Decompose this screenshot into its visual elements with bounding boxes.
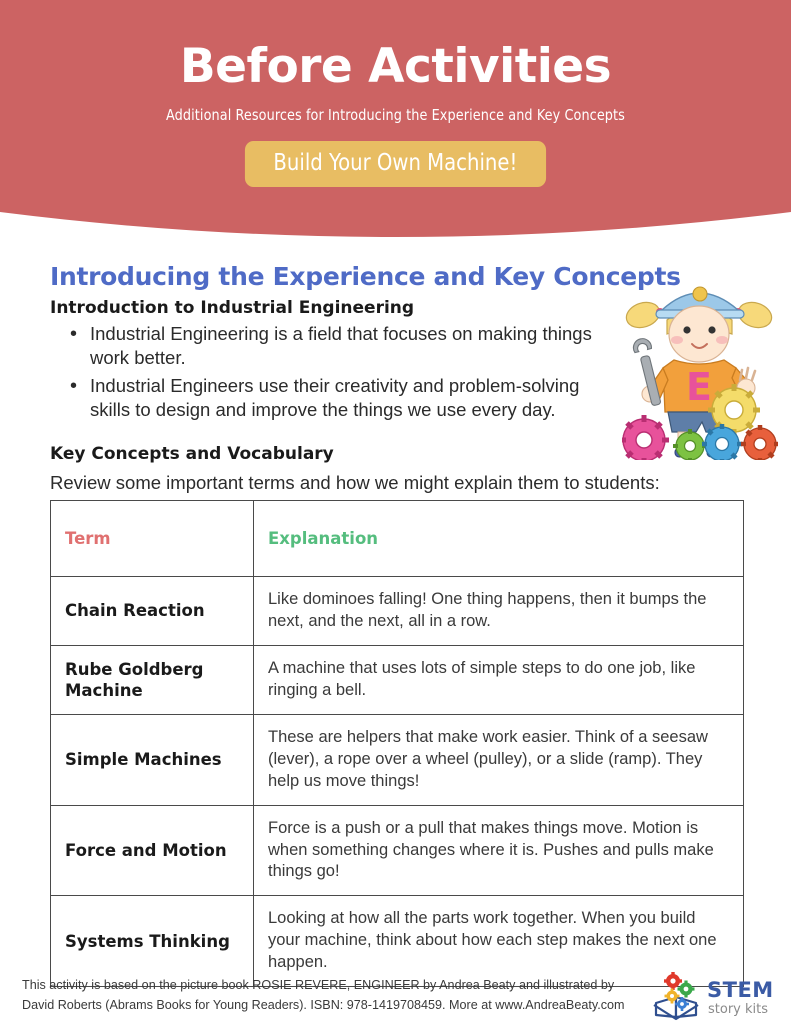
subheading-vocabulary: Key Concepts and Vocabulary [50,444,334,464]
credit-line-1: This activity is based on the picture bo… [22,976,642,996]
logo-wordmark-story-kits: story kits [708,1002,768,1017]
activity-badge: Build Your Own Machine! [245,141,546,187]
stem-story-kits-logo: STEM story kits [652,969,784,1023]
worksheet-page: Before Activities Additional Resources f… [0,0,791,1024]
header-banner: Before Activities Additional Resources f… [0,0,791,250]
intro-bullet-list: Industrial Engineering is a field that f… [62,322,592,426]
vocabulary-table: Term Explanation Chain Reaction Like dom… [50,500,744,987]
column-header-term: Term [51,501,254,577]
credit-text: This activity is based on the picture bo… [22,976,642,1015]
footer: This activity is based on the picture bo… [0,972,791,1024]
term-cell: Rube Goldberg Machine [51,645,254,714]
table-row: Force and Motion Force is a push or a pu… [51,805,744,896]
header-subtitle: Additional Resources for Introducing the… [32,106,760,124]
page-title: Before Activities [0,40,791,94]
column-header-explanation: Explanation [254,501,744,577]
review-instruction: Review some important terms and how we m… [50,472,660,494]
term-cell: Chain Reaction [51,577,254,646]
table-row: Rube Goldberg Machine A machine that use… [51,645,744,714]
table-body: Chain Reaction Like dominoes falling! On… [51,577,744,987]
logo-wordmark-stem: STEM [707,978,774,1002]
explanation-cell: These are helpers that make work easier.… [254,714,744,805]
open-book-icon [654,997,698,1019]
term-cell: Force and Motion [51,805,254,896]
explanation-cell: A machine that uses lots of simple steps… [254,645,744,714]
explanation-cell: Like dominoes falling! One thing happens… [254,577,744,646]
subheading-introduction: Introduction to Industrial Engineering [50,298,414,318]
credit-line-2: David Roberts (Abrams Books for Young Re… [22,996,642,1016]
list-item: Industrial Engineering is a field that f… [62,322,592,371]
table-row: Simple Machines These are helpers that m… [51,714,744,805]
section-title: Introducing the Experience and Key Conce… [50,262,681,291]
letter-e-logo: E [686,365,712,409]
girl-engineer-illustration: E [622,272,778,460]
term-cell: Simple Machines [51,714,254,805]
table-row: Chain Reaction Like dominoes falling! On… [51,577,744,646]
table-header-row: Term Explanation [51,501,744,577]
list-item: Industrial Engineers use their creativit… [62,374,592,423]
explanation-cell: Force is a push or a pull that makes thi… [254,805,744,896]
